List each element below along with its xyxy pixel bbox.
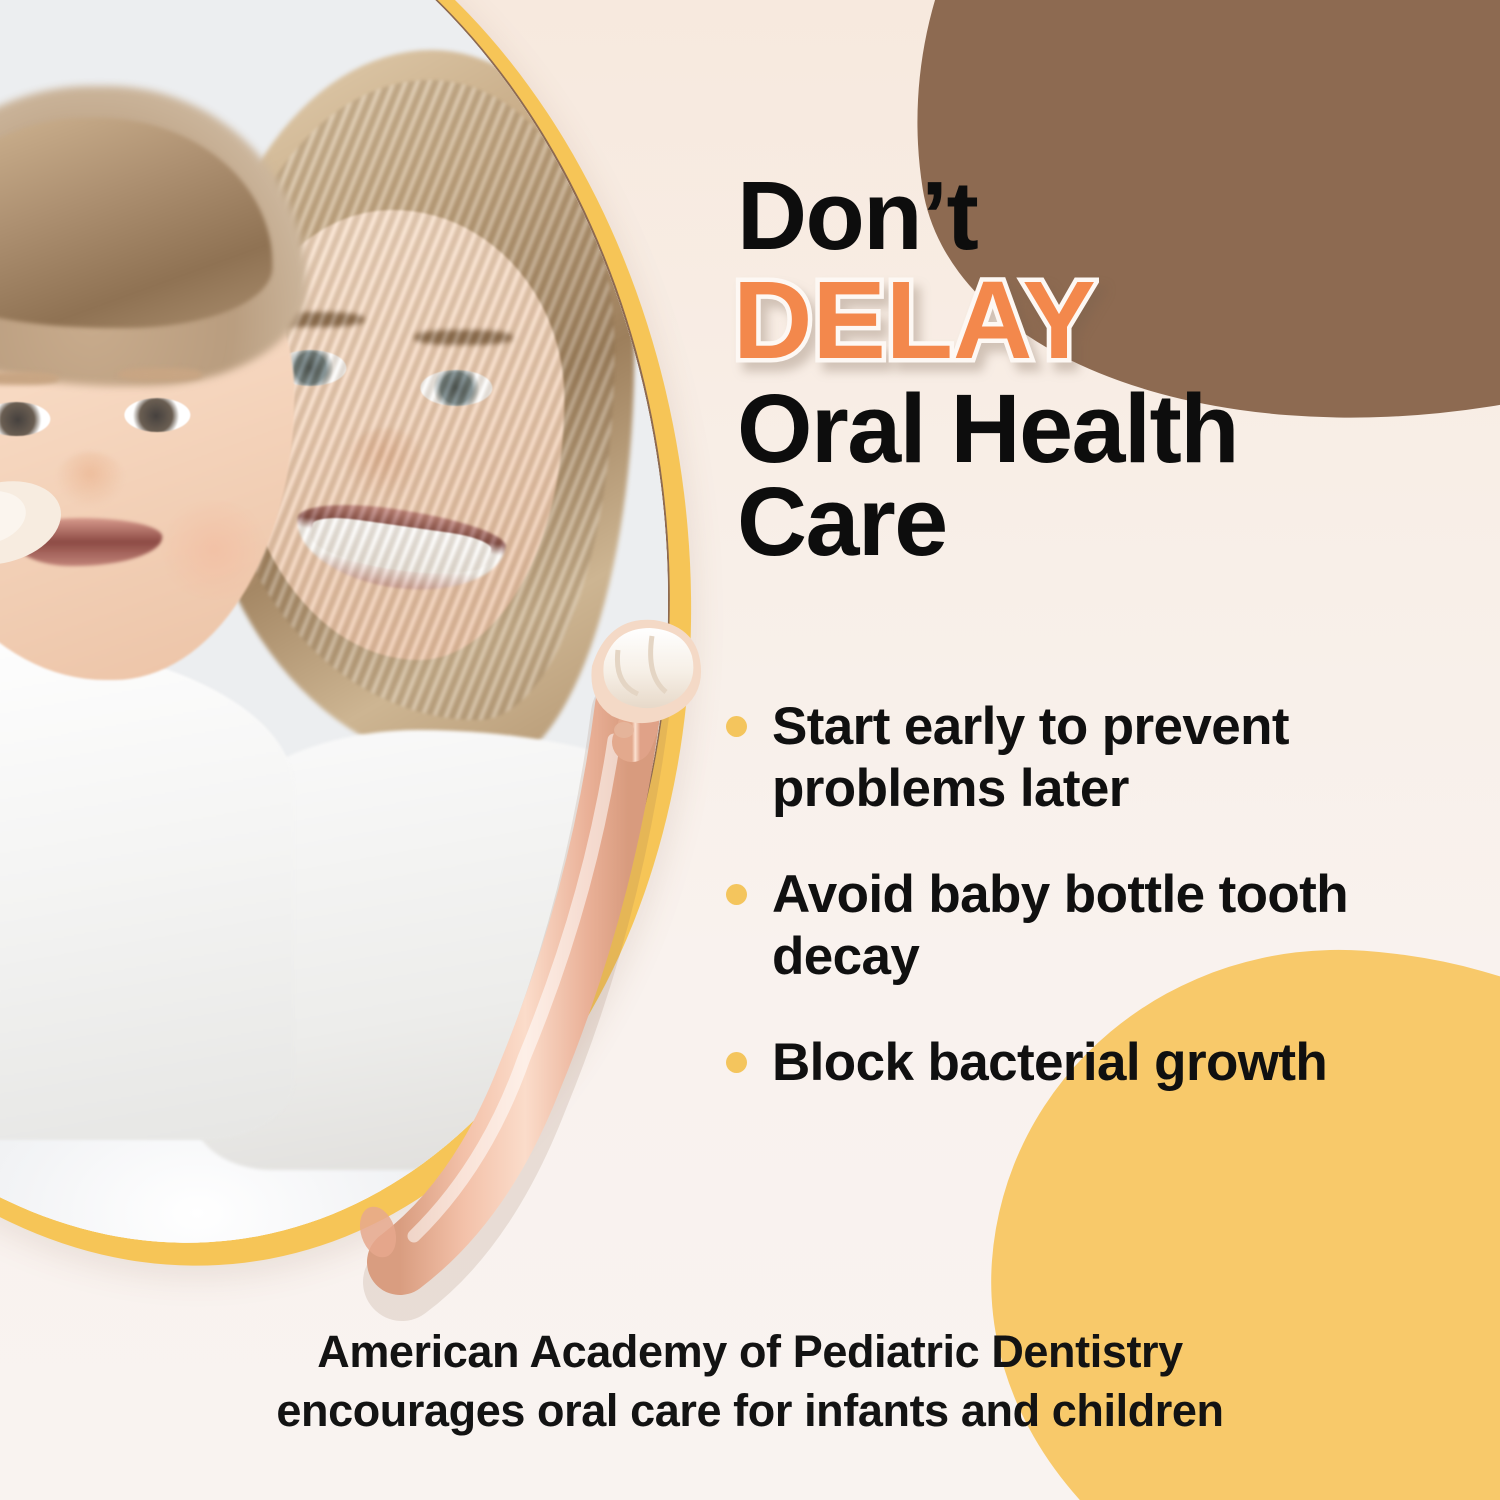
headline-line-3: Oral Health xyxy=(737,381,1437,476)
bullet-text: Block bacterial growth xyxy=(772,1032,1327,1094)
baby-held-toothbrush-icon xyxy=(0,0,746,1270)
list-item: Start early to prevent problems later xyxy=(726,696,1486,820)
footer-line-2: encourages oral care for infants and chi… xyxy=(0,1381,1500,1440)
photo-content xyxy=(0,0,746,1270)
bullet-text: Avoid baby bottle tooth decay xyxy=(772,864,1486,988)
lifestyle-photo xyxy=(0,0,746,1303)
bullet-dot-icon xyxy=(726,884,747,905)
bullet-dot-icon xyxy=(726,716,747,737)
list-item: Avoid baby bottle tooth decay xyxy=(726,864,1486,988)
list-item: Block bacterial growth xyxy=(726,1032,1486,1094)
headline-line-4: Care xyxy=(737,474,1437,569)
footer-line-1: American Academy of Pediatric Dentistry xyxy=(0,1322,1500,1381)
bullet-dot-icon xyxy=(726,1052,747,1073)
photo-medallion-yellow-ring xyxy=(0,0,771,1327)
headline-accent-delay: DELAY xyxy=(733,267,1437,375)
headline-line-1: Don’t xyxy=(737,168,1437,263)
headline: Don’t DELAY Oral Health Care xyxy=(737,168,1437,569)
poster-canvas: Don’t DELAY Oral Health Care Start early… xyxy=(0,0,1500,1500)
bullet-text: Start early to prevent problems later xyxy=(772,696,1486,820)
footer-caption: American Academy of Pediatric Dentistry … xyxy=(0,1322,1500,1441)
benefits-list: Start early to prevent problems later Av… xyxy=(726,696,1486,1138)
